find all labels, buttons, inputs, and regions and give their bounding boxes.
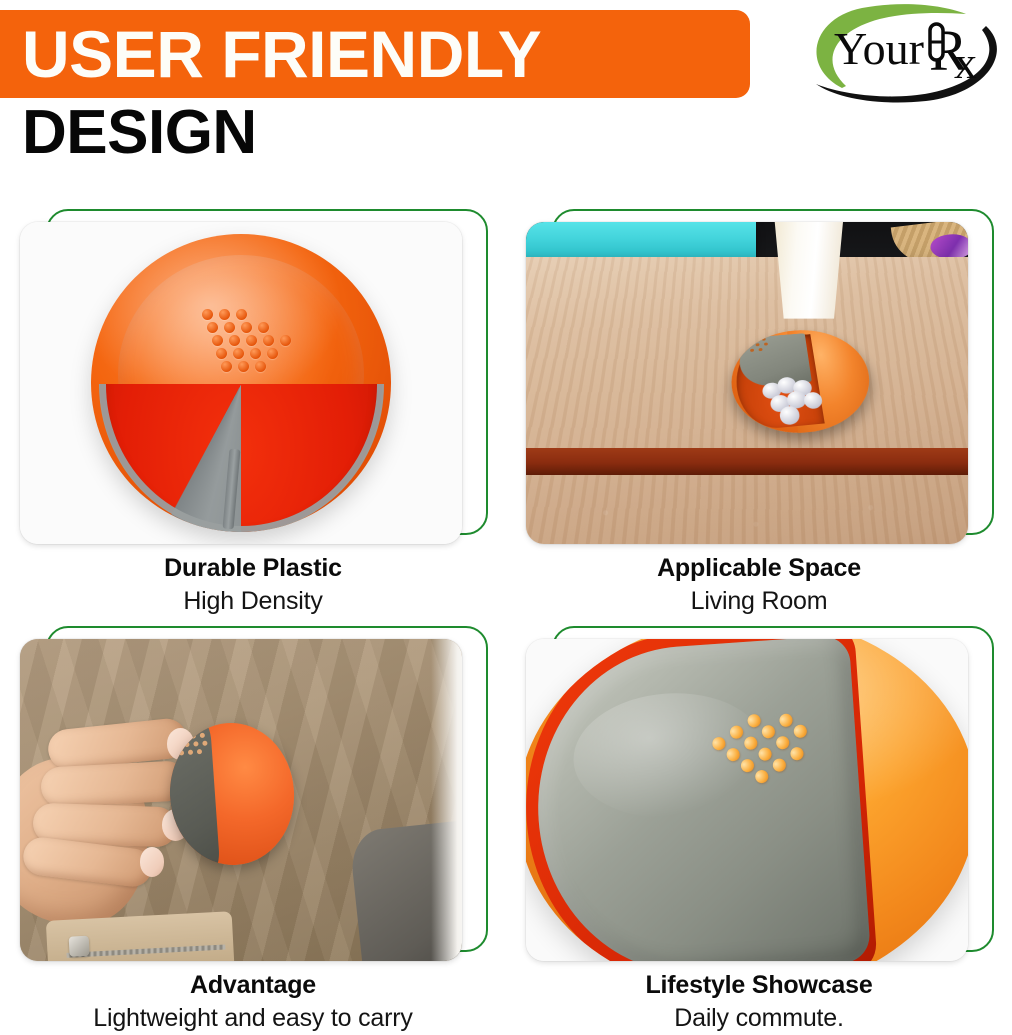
grip-dot	[219, 309, 230, 320]
grip-dot	[224, 322, 235, 333]
grip-dot	[773, 734, 791, 752]
logo-wordmark-x: x	[954, 37, 977, 88]
case-gray-rim	[99, 384, 384, 532]
product-studio-photo	[20, 222, 462, 544]
feature-card-durable-plastic[interactable]: Durable Plastic High Density	[0, 190, 506, 607]
case-grip-dots	[196, 309, 292, 360]
grip-dot	[207, 322, 218, 333]
page-title-secondary: DESIGN	[22, 100, 257, 165]
yourrx-logo[interactable]: Your R x	[790, 2, 1006, 106]
photo-canvas	[526, 639, 968, 961]
grip-dot	[233, 348, 244, 359]
photo-canvas	[20, 639, 462, 961]
logo-wordmark-your: Your	[834, 23, 924, 74]
grip-dot	[738, 757, 756, 775]
grip-dot	[250, 348, 261, 359]
grip-dot	[246, 335, 257, 346]
scene-light-edge	[431, 639, 462, 961]
card-subtitle: Daily commute.	[506, 1002, 1012, 1035]
feature-card-lifestyle-showcase[interactable]: Lifestyle Showcase Daily commute.	[506, 607, 1012, 1024]
grip-dot	[267, 348, 278, 359]
page-title-primary: USER FRIENDLY	[0, 21, 541, 87]
grip-dot	[788, 745, 806, 763]
card-title: Durable Plastic	[0, 552, 506, 585]
grip-dot	[280, 335, 291, 346]
grip-dot	[724, 746, 742, 764]
feature-card-applicable-space[interactable]: Applicable Space Living Room	[506, 190, 1012, 607]
grip-dot	[229, 335, 240, 346]
title-highlight-bar: USER FRIENDLY	[0, 10, 750, 98]
grip-dot	[241, 322, 252, 333]
card-caption: Advantage Lightweight and easy to carry	[0, 969, 506, 1035]
grip-dot	[791, 722, 809, 740]
photo-canvas	[526, 222, 968, 544]
scene-table-edge	[526, 449, 968, 476]
living-room-scene-photo	[526, 222, 968, 544]
macro-closeup-photo	[526, 639, 968, 961]
grip-dot	[752, 768, 770, 786]
grip-dot	[212, 335, 223, 346]
hand-holding-case-photo	[20, 639, 462, 961]
grip-dot	[197, 749, 202, 754]
grip-dot	[238, 361, 249, 372]
grip-dot	[199, 733, 204, 738]
pill-case-illustration	[91, 234, 391, 532]
grip-dot	[179, 750, 184, 755]
grip-dot	[759, 723, 777, 741]
grip-dot	[258, 322, 269, 333]
grip-dot	[190, 733, 195, 738]
card-subtitle: Lightweight and easy to carry	[0, 1002, 506, 1035]
card-caption: Lifestyle Showcase Daily commute.	[506, 969, 1012, 1035]
grip-dot	[742, 734, 760, 752]
grip-dot	[221, 361, 232, 372]
grip-dot	[173, 734, 178, 739]
feature-card-advantage[interactable]: Advantage Lightweight and easy to carry	[0, 607, 506, 1024]
header: USER FRIENDLY DESIGN Your R x	[0, 0, 1012, 190]
pill-case-macro	[526, 639, 968, 961]
zipper-pull	[68, 936, 89, 957]
photo-canvas	[20, 222, 462, 544]
case-lower-half	[91, 384, 391, 532]
grip-dot	[216, 348, 227, 359]
card-title: Advantage	[0, 969, 506, 1002]
grip-dot	[236, 309, 247, 320]
grip-dot	[770, 756, 788, 774]
card-title: Applicable Space	[506, 552, 1012, 585]
grip-dot	[255, 361, 266, 372]
card-title: Lifestyle Showcase	[506, 969, 1012, 1002]
scene-floor	[526, 492, 968, 544]
grip-dot	[182, 734, 187, 739]
grip-dot	[188, 749, 193, 754]
grip-dot	[202, 309, 213, 320]
feature-grid: Durable Plastic High Density	[0, 190, 1012, 1024]
grip-dot	[756, 745, 774, 763]
scene-zipper	[45, 911, 233, 961]
grip-dot	[263, 335, 274, 346]
grip-dot	[777, 711, 795, 729]
